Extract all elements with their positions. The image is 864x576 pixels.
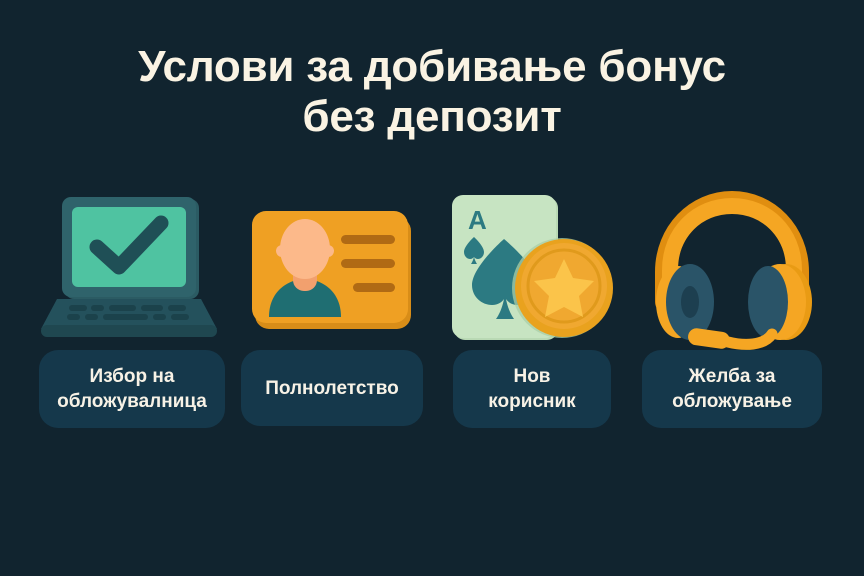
- ace-of-spades-coin-icon-svg: A: [446, 193, 618, 348]
- condition-item-1: Избор на обложувалница: [32, 190, 232, 428]
- laptop-check-icon: [37, 190, 227, 350]
- headset-icon-svg: [644, 190, 820, 350]
- id-card-icon-svg: [247, 205, 417, 335]
- card-rank-label: A: [468, 205, 487, 235]
- headset-icon: [637, 190, 827, 350]
- condition-item-2: Полнолетство: [232, 190, 432, 426]
- infographic-poster: Услови за добивање бонус без депозит: [0, 0, 864, 576]
- condition-label-4[interactable]: Желба за обложување: [642, 350, 822, 428]
- id-card-icon: [237, 190, 427, 350]
- conditions-row: Избор на обложувалница: [0, 190, 864, 460]
- page-title: Услови за добивање бонус без депозит: [0, 42, 864, 142]
- condition-label-3[interactable]: Нов корисник: [453, 350, 611, 428]
- condition-item-4: Желба за обложување: [632, 190, 832, 428]
- ace-of-spades-coin-icon: A: [437, 190, 627, 350]
- condition-label-2[interactable]: Полнолетство: [241, 350, 423, 426]
- condition-label-1[interactable]: Избор на обложувалница: [39, 350, 225, 428]
- condition-item-3: A Нов корисник: [432, 190, 632, 428]
- laptop-check-icon-svg: [39, 195, 225, 345]
